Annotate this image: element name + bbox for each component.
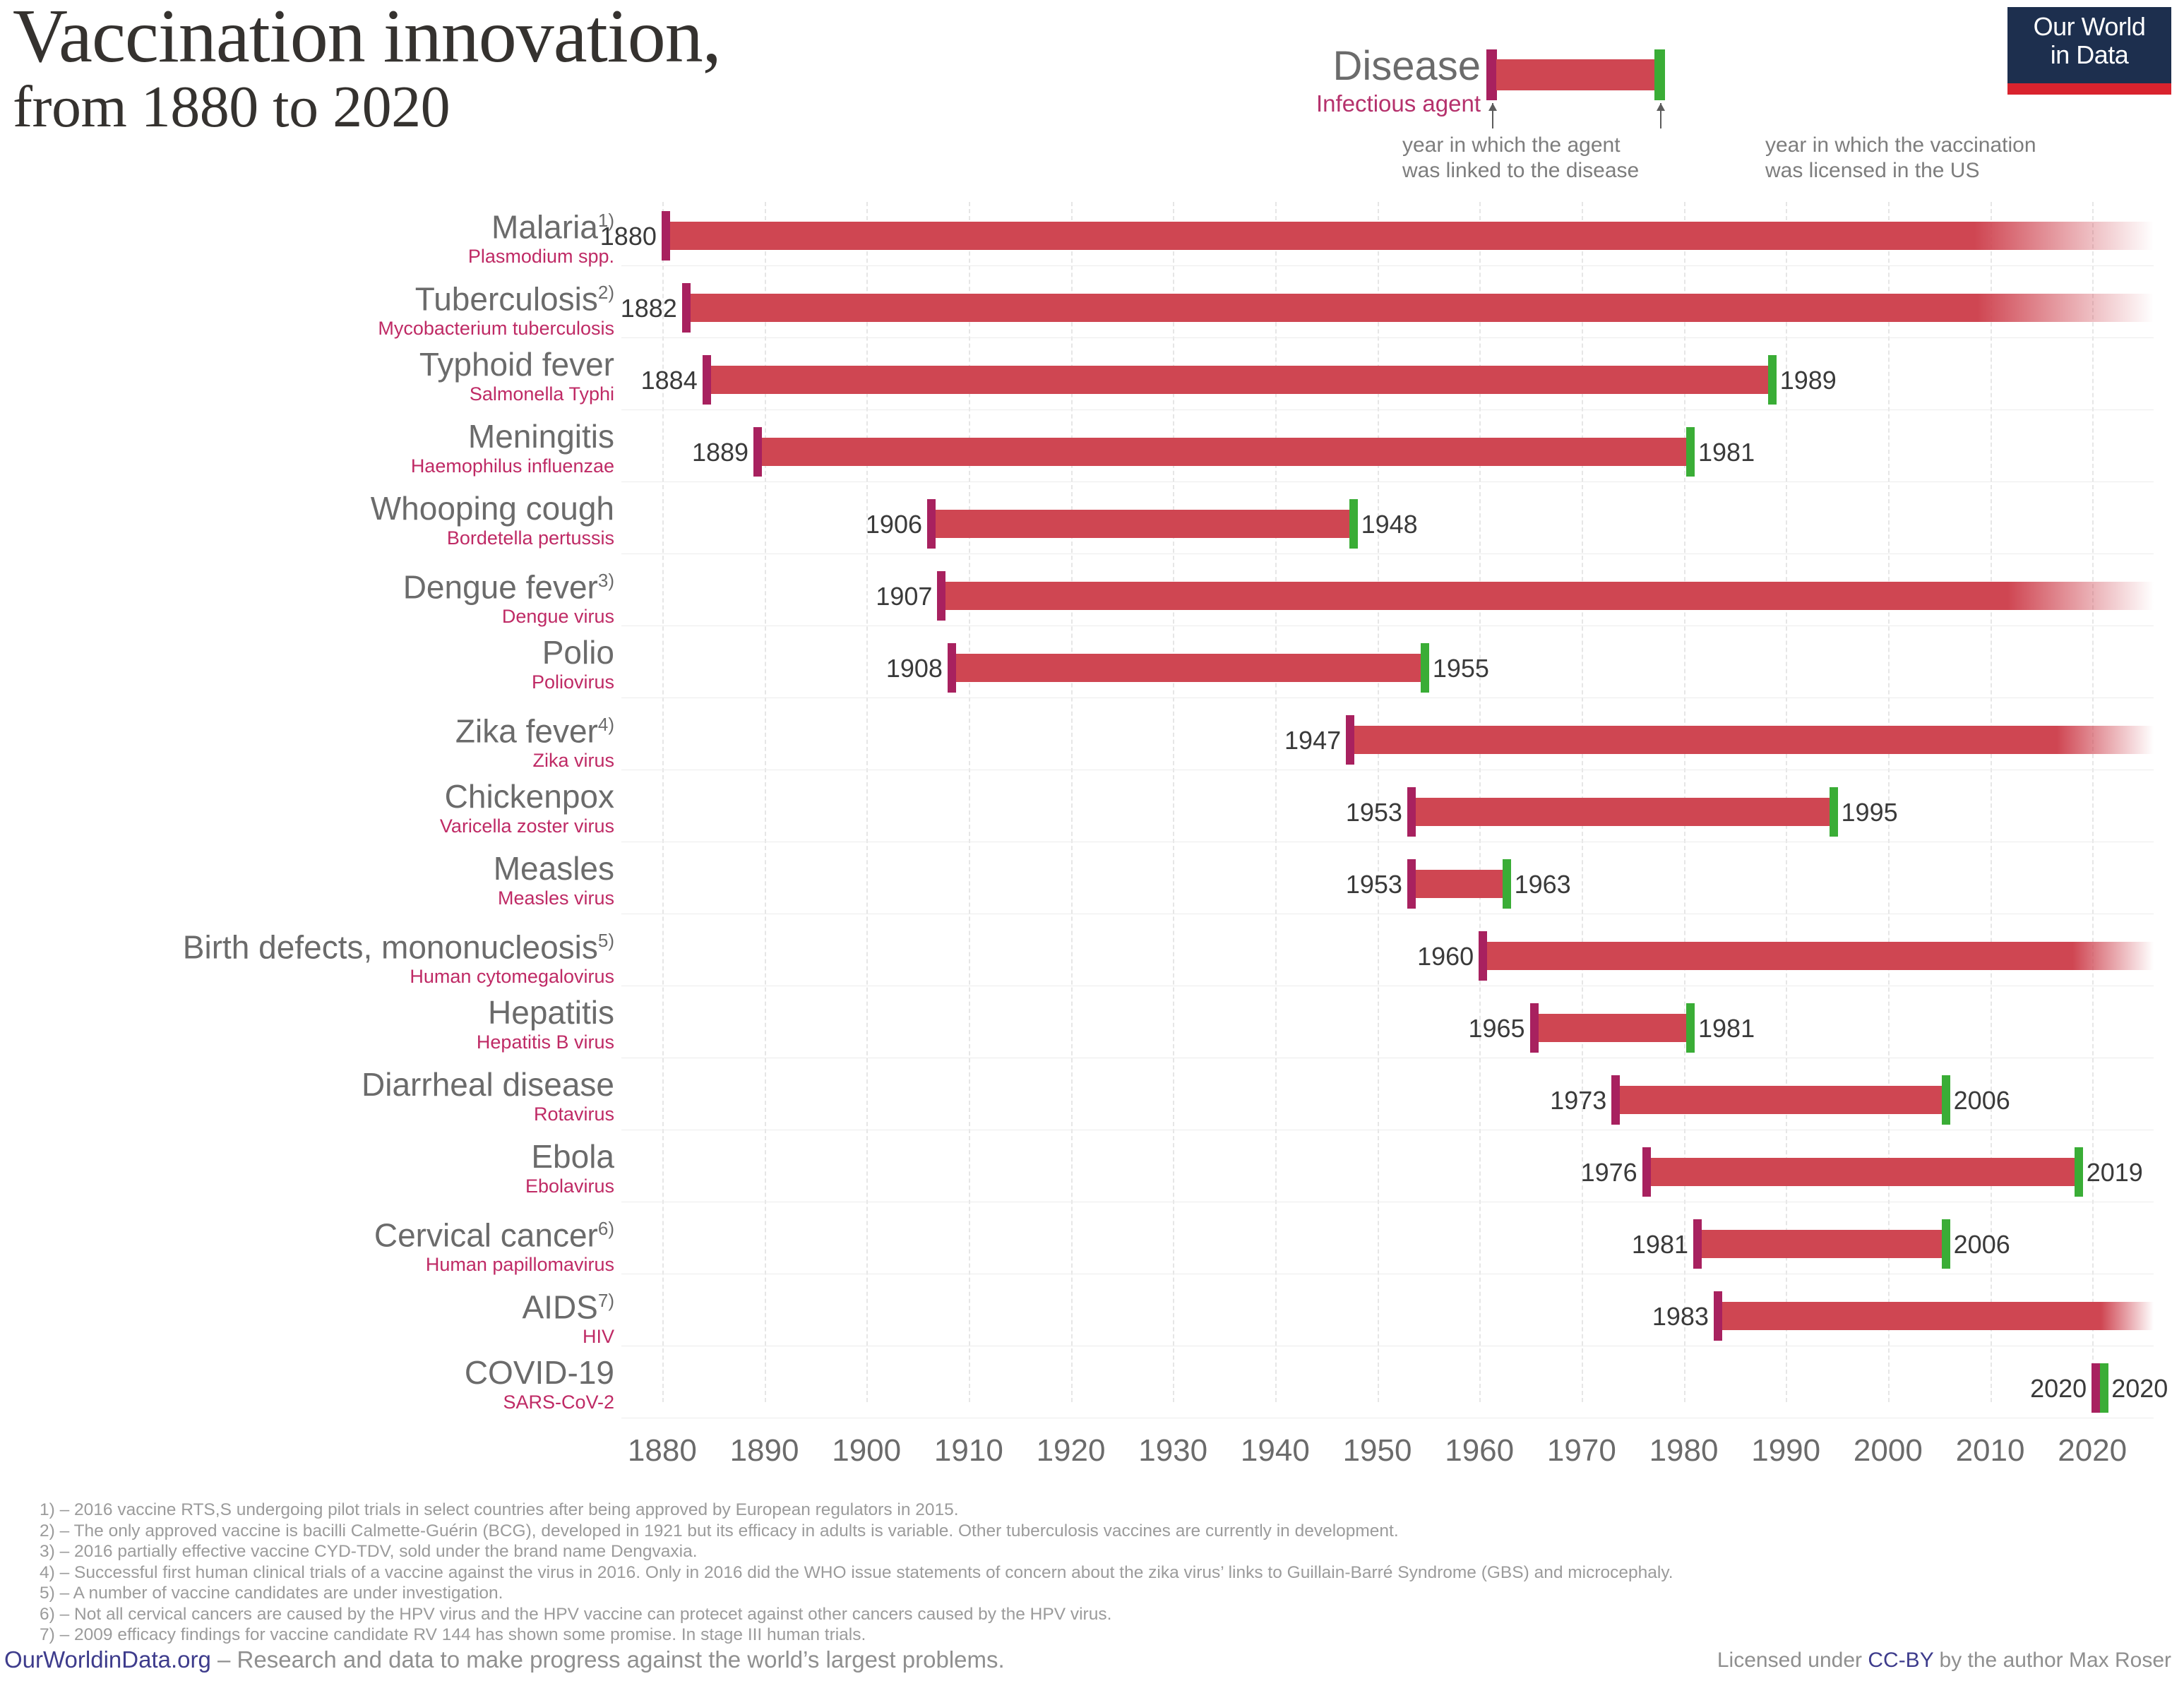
bar-track: 1960 (621, 922, 2154, 995)
end-year-label: 1995 (1842, 799, 1898, 826)
disease-name: Cervical cancer6) (0, 1210, 621, 1253)
infographic-root: Vaccination innovation, from 1880 to 202… (0, 0, 2184, 1693)
cc-by-link[interactable]: CC-BY (1868, 1649, 1933, 1672)
end-year-label: 2006 (1954, 1231, 2010, 1258)
agent-linked-marker (1407, 859, 1416, 909)
footnote-7: 7) – 2009 efficacy findings for vaccine … (40, 1625, 2144, 1646)
bar-track: 18841989 (621, 346, 2154, 419)
agent-linked-marker (2091, 1363, 2100, 1413)
disease-name: AIDS7) (0, 1282, 621, 1325)
footnote-marker: 7) (598, 1290, 614, 1311)
row-label-group: HepatitisHepatitis B virus (0, 994, 621, 1053)
infectious-agent-name: SARS-CoV-2 (0, 1391, 621, 1413)
disease-name: Birth defects, mononucleosis5) (0, 922, 621, 965)
duration-bar (703, 366, 1776, 394)
chart-row: Tuberculosis2)Mycobacterium tuberculosis… (0, 274, 2184, 347)
disease-name: Hepatitis (0, 994, 621, 1031)
row-label-group: Whooping coughBordetella pertussis (0, 490, 621, 549)
x-tick-1980: 1980 (1649, 1433, 1719, 1468)
infectious-agent-name: Hepatitis B virus (0, 1031, 621, 1053)
footnote-4: 4) – Successful first human clinical tri… (40, 1562, 2144, 1584)
bar-track: 19812006 (621, 1210, 2154, 1284)
infectious-agent-name: Ebolavirus (0, 1175, 621, 1197)
legend-end-cap-icon (1654, 49, 1665, 100)
agent-linked-marker (1611, 1075, 1620, 1125)
license-post-text: by the author Max Roser (1933, 1649, 2171, 1672)
x-tick-1910: 1910 (934, 1433, 1003, 1468)
row-label-group: AIDS7)HIV (0, 1282, 621, 1348)
footnote-5: 5) – A number of vaccine candidates are … (40, 1583, 2144, 1604)
footnote-marker: 6) (598, 1218, 614, 1239)
disease-name: Dengue fever3) (0, 562, 621, 605)
duration-bar (1612, 1086, 1949, 1114)
disease-name: Tuberculosis2) (0, 274, 621, 317)
duration-bar (928, 510, 1357, 538)
x-tick-1940: 1940 (1241, 1433, 1310, 1468)
disease-name: Ebola (0, 1138, 621, 1175)
duration-bar (938, 582, 2154, 610)
row-label-group: Dengue fever3)Dengue virus (0, 562, 621, 628)
vaccine-licensed-marker (1686, 1003, 1695, 1053)
chart-row: Cervical cancer6)Human papillomavirus198… (0, 1210, 2184, 1284)
bar-track: 19762019 (621, 1138, 2154, 1212)
owid-logo: Our World in Data (2007, 7, 2171, 83)
bar-track: 1882 (621, 274, 2154, 347)
start-year-label: 1884 (555, 367, 698, 394)
row-label-group: Birth defects, mononucleosis5)Human cyto… (0, 922, 621, 988)
end-year-label: 1948 (1361, 511, 1418, 538)
chart-row: Typhoid feverSalmonella Typhi18841989 (0, 346, 2184, 419)
x-tick-1930: 1930 (1138, 1433, 1207, 1468)
owid-site-link[interactable]: OurWorldinData.org (4, 1646, 211, 1673)
x-tick-1960: 1960 (1445, 1433, 1514, 1468)
footnote-3: 3) – 2016 partially effective vaccine CY… (40, 1541, 2144, 1562)
start-year-label: 1907 (789, 583, 932, 610)
vaccine-licensed-marker (1942, 1075, 1950, 1125)
chart-row: Dengue fever3)Dengue virus1907 (0, 562, 2184, 635)
x-tick-1890: 1890 (730, 1433, 799, 1468)
start-year-label: 1880 (514, 223, 657, 250)
legend-agent-label: Infectious agent (1316, 90, 1481, 117)
end-year-label: 2020 (2111, 1375, 2168, 1402)
bar-track: 20202020 (621, 1354, 2154, 1428)
start-year-label: 1882 (535, 295, 677, 322)
vaccine-licensed-marker (2100, 1363, 2108, 1413)
infectious-agent-name: Dengue virus (0, 605, 621, 628)
duration-bar (1479, 942, 2154, 970)
legend-disease-label: Disease (1332, 42, 1481, 90)
end-year-label: 1981 (1698, 1015, 1755, 1042)
agent-linked-marker (753, 427, 762, 477)
chart-row: AIDS7)HIV1983 (0, 1282, 2184, 1356)
disease-name: Typhoid fever (0, 346, 621, 383)
x-tick-1950: 1950 (1343, 1433, 1412, 1468)
legend: Disease Infectious agent year in which t… (1342, 13, 2083, 189)
row-label-group: ChickenpoxVaricella zoster virus (0, 778, 621, 837)
vaccine-licensed-marker (1503, 859, 1511, 909)
bar-track: 18891981 (621, 418, 2154, 491)
chart-area: Malaria1)Plasmodium spp.1880Tuberculosis… (0, 202, 2184, 1430)
agent-linked-marker (703, 355, 711, 405)
license-pre-text: Licensed under (1717, 1649, 1868, 1672)
x-tick-2020: 2020 (2058, 1433, 2127, 1468)
footnote-marker: 3) (598, 570, 614, 591)
chart-row: ChickenpoxVaricella zoster virus19531995 (0, 778, 2184, 851)
chart-row: Zika fever4)Zika virus1947 (0, 706, 2184, 779)
legend-bar-sample (1486, 49, 1670, 100)
chart-row: MeaslesMeasles virus19531963 (0, 850, 2184, 923)
start-year-label: 1976 (1495, 1159, 1637, 1186)
duration-bar (1408, 798, 1837, 826)
start-year-label: 1908 (800, 655, 943, 682)
start-year-label: 1889 (606, 439, 748, 466)
end-year-label: 1989 (1780, 367, 1837, 394)
start-year-label: 1947 (1198, 727, 1341, 754)
agent-linked-marker (662, 211, 670, 261)
legend-arrow-end-icon (1660, 103, 1661, 128)
start-year-label: 2020 (1944, 1375, 2087, 1402)
end-year-label: 1963 (1515, 871, 1571, 898)
row-label-group: Typhoid feverSalmonella Typhi (0, 346, 621, 405)
start-year-label: 1965 (1383, 1015, 1525, 1042)
end-year-label: 2019 (2087, 1159, 2143, 1186)
start-year-label: 1953 (1260, 871, 1402, 898)
disease-name: Diarrheal disease (0, 1066, 621, 1103)
duration-bar (1694, 1230, 1950, 1258)
agent-linked-marker (1530, 1003, 1539, 1053)
duration-bar (754, 438, 1694, 466)
footnote-2: 2) – The only approved vaccine is bacill… (40, 1521, 2144, 1542)
row-label-group: Zika fever4)Zika virus (0, 706, 621, 772)
bar-track: 19531963 (621, 850, 2154, 923)
footer-attribution: OurWorldinData.org – Research and data t… (4, 1645, 1005, 1675)
chart-row: COVID-19SARS-CoV-220202020 (0, 1354, 2184, 1428)
end-year-label: 2006 (1954, 1087, 2010, 1114)
chart-row: Birth defects, mononucleosis5)Human cyto… (0, 922, 2184, 995)
disease-name: Meningitis (0, 418, 621, 455)
infectious-agent-name: Human cytomegalovirus (0, 965, 621, 988)
vaccine-licensed-marker (1830, 787, 1838, 837)
x-tick-1970: 1970 (1547, 1433, 1616, 1468)
owid-logo-accent-bar (2007, 83, 2171, 95)
vaccine-licensed-marker (2075, 1147, 2083, 1197)
legend-note-end-line1: year in which the vaccination (1765, 133, 2036, 158)
vaccine-licensed-marker (1421, 643, 1429, 693)
agent-linked-marker (927, 499, 936, 549)
disease-name: Chickenpox (0, 778, 621, 815)
owid-logo-line2: in Data (2007, 41, 2171, 69)
vaccine-licensed-marker (1768, 355, 1777, 405)
row-label-group: Diarrheal diseaseRotavirus (0, 1066, 621, 1125)
vaccine-licensed-marker (1686, 427, 1695, 477)
legend-start-cap-icon (1486, 49, 1497, 100)
infectious-agent-name: Salmonella Typhi (0, 383, 621, 405)
chart-row: PolioPoliovirus19081955 (0, 634, 2184, 707)
x-tick-1920: 1920 (1037, 1433, 1106, 1468)
chart-row: Whooping coughBordetella pertussis190619… (0, 490, 2184, 563)
owid-logo-line1: Our World (2007, 13, 2171, 41)
bar-track: 19531995 (621, 778, 2154, 851)
infectious-agent-name: Human papillomavirus (0, 1253, 621, 1276)
infectious-agent-name: Varicella zoster virus (0, 815, 621, 837)
infectious-agent-name: Mycobacterium tuberculosis (0, 317, 621, 340)
disease-name: Zika fever4) (0, 706, 621, 749)
footnote-marker: 5) (598, 930, 614, 951)
disease-name: Polio (0, 634, 621, 671)
footnote-6: 6) – Not all cervical cancers are caused… (40, 1604, 2144, 1625)
start-year-label: 1973 (1464, 1087, 1606, 1114)
agent-linked-marker (948, 643, 956, 693)
agent-linked-marker (1693, 1219, 1702, 1269)
bar-track: 1880 (621, 202, 2154, 275)
chart-row: EbolaEbolavirus19762019 (0, 1138, 2184, 1212)
page-title-line1: Vaccination innovation, (13, 0, 1298, 73)
vaccine-licensed-marker (1349, 499, 1358, 549)
agent-linked-marker (1407, 787, 1416, 837)
chart-row: Diarrheal diseaseRotavirus19732006 (0, 1066, 2184, 1139)
x-axis: 1880189019001910192019301940195019601970… (621, 1433, 2154, 1483)
row-label-group: COVID-19SARS-CoV-2 (0, 1354, 621, 1413)
start-year-label: 1981 (1546, 1231, 1688, 1258)
legend-arrow-start-icon (1492, 103, 1493, 128)
x-tick-2010: 2010 (1956, 1433, 2025, 1468)
bar-track: 1947 (621, 706, 2154, 779)
duration-bar (1714, 1302, 2154, 1330)
bar-track: 19732006 (621, 1066, 2154, 1139)
legend-note-end-line2: was licensed in the US (1765, 158, 1980, 184)
duration-bar (662, 222, 2154, 250)
agent-linked-marker (937, 571, 945, 621)
bar-track: 1907 (621, 562, 2154, 635)
infectious-agent-name: Bordetella pertussis (0, 527, 621, 549)
footnote-1: 1) – 2016 vaccine RTS,S undergoing pilot… (40, 1500, 2144, 1521)
disease-name: Measles (0, 850, 621, 887)
chart-row: Malaria1)Plasmodium spp.1880 (0, 202, 2184, 275)
agent-linked-marker (1714, 1291, 1722, 1341)
legend-note-start-line2: was linked to the disease (1402, 158, 1639, 184)
end-year-label: 1955 (1433, 655, 1489, 682)
legend-bar-fill (1496, 59, 1657, 90)
title-block: Vaccination innovation, from 1880 to 202… (13, 0, 1298, 141)
vaccine-licensed-marker (1942, 1219, 1950, 1269)
chart-row: MeningitisHaemophilus influenzae18891981 (0, 418, 2184, 491)
page-title-line2: from 1880 to 2020 (13, 73, 1298, 141)
x-tick-1880: 1880 (628, 1433, 697, 1468)
x-tick-1900: 1900 (832, 1433, 901, 1468)
start-year-label: 1953 (1260, 799, 1402, 826)
duration-bar (1347, 726, 2154, 754)
infectious-agent-name: Rotavirus (0, 1103, 621, 1125)
bar-track: 19651981 (621, 994, 2154, 1067)
duration-bar (948, 654, 1428, 682)
x-tick-1990: 1990 (1751, 1433, 1820, 1468)
legend-note-start-line1: year in which the agent (1402, 133, 1621, 158)
start-year-label: 1960 (1331, 943, 1474, 970)
agent-linked-marker (1642, 1147, 1651, 1197)
footer-tagline: – Research and data to make progress aga… (211, 1646, 1005, 1673)
row-label-group: MeaslesMeasles virus (0, 850, 621, 909)
infectious-agent-name: Zika virus (0, 749, 621, 772)
agent-linked-marker (1346, 715, 1354, 765)
duration-bar (1408, 870, 1510, 898)
footnotes: 1) – 2016 vaccine RTS,S undergoing pilot… (40, 1500, 2144, 1646)
row-label-group: MeningitisHaemophilus influenzae (0, 418, 621, 477)
duration-bar (683, 294, 2154, 322)
duration-bar (1643, 1158, 2082, 1186)
disease-name: Whooping cough (0, 490, 621, 527)
row-label-group: Tuberculosis2)Mycobacterium tuberculosis (0, 274, 621, 340)
duration-bar (1531, 1014, 1694, 1042)
bar-track: 1983 (621, 1282, 2154, 1356)
row-label-group: EbolaEbolavirus (0, 1138, 621, 1197)
start-year-label: 1983 (1566, 1303, 1709, 1330)
row-label-group: PolioPoliovirus (0, 634, 621, 693)
bar-track: 19081955 (621, 634, 2154, 707)
start-year-label: 1906 (780, 511, 922, 538)
bar-track: 19061948 (621, 490, 2154, 563)
chart-row: HepatitisHepatitis B virus19651981 (0, 994, 2184, 1067)
x-tick-2000: 2000 (1854, 1433, 1923, 1468)
agent-linked-marker (682, 283, 691, 333)
footer: OurWorldinData.org – Research and data t… (0, 1645, 2184, 1687)
infectious-agent-name: Poliovirus (0, 671, 621, 693)
infectious-agent-name: HIV (0, 1325, 621, 1348)
disease-name: COVID-19 (0, 1354, 621, 1391)
infectious-agent-name: Measles virus (0, 887, 621, 909)
infectious-agent-name: Haemophilus influenzae (0, 455, 621, 477)
footnote-marker: 4) (598, 714, 614, 735)
end-year-label: 1981 (1698, 439, 1755, 466)
footer-license: Licensed under CC-BY by the author Max R… (1717, 1646, 2171, 1675)
agent-linked-marker (1479, 931, 1487, 981)
row-label-group: Cervical cancer6)Human papillomavirus (0, 1210, 621, 1276)
